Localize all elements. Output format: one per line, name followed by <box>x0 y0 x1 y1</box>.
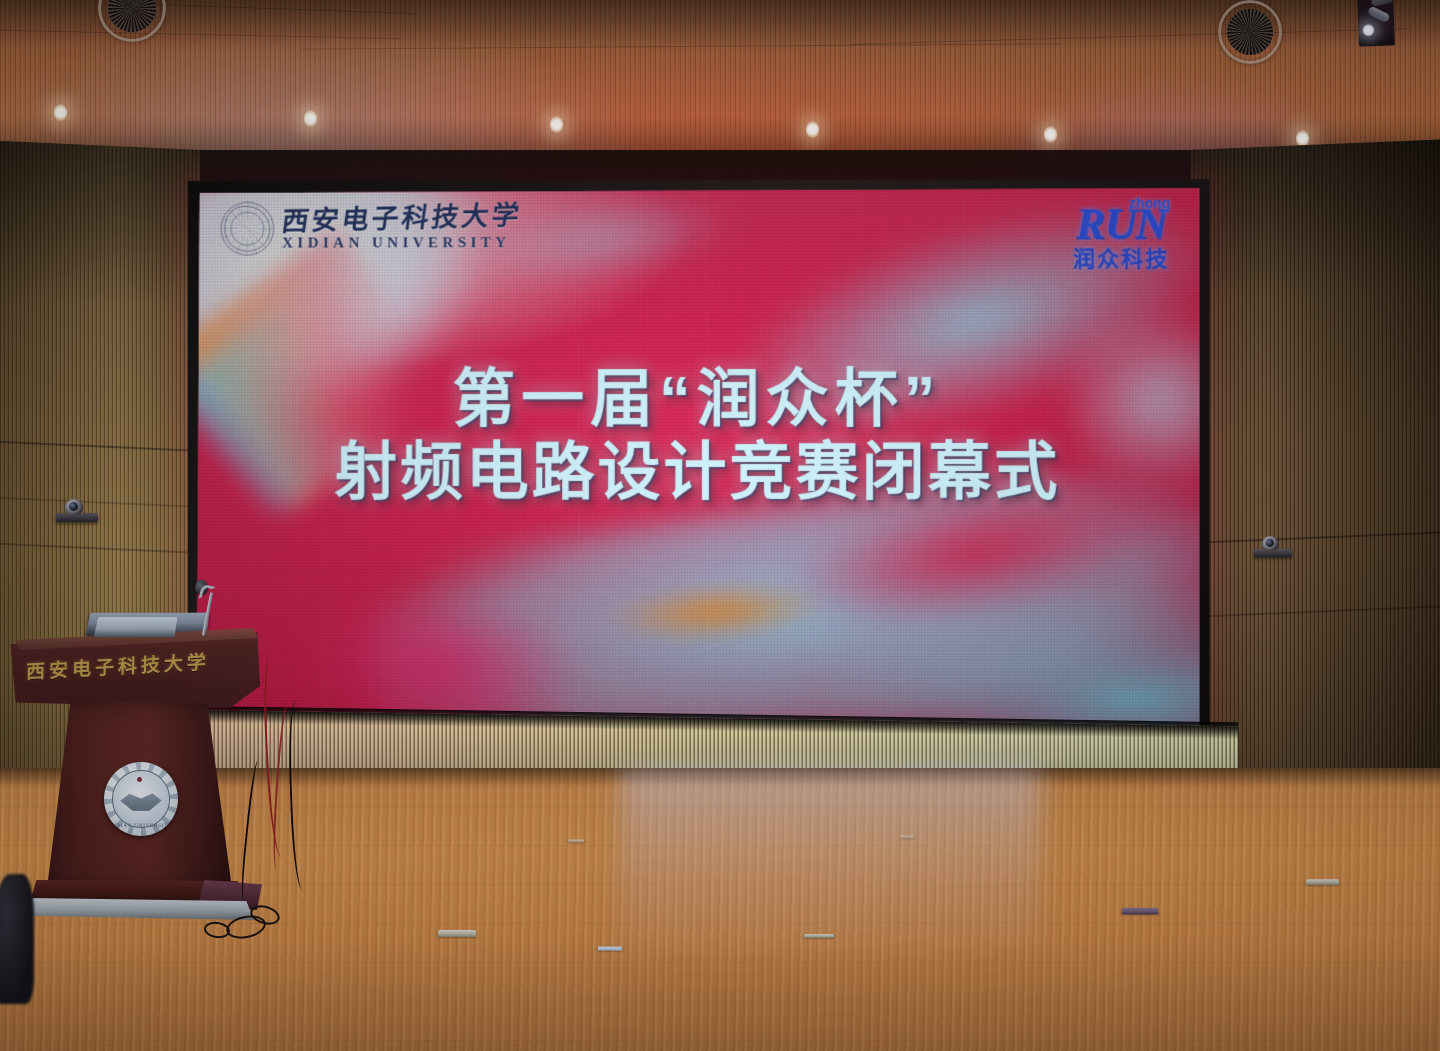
floor-socket-plate-icon <box>438 930 477 937</box>
university-name-cn: 西安电子科技大学 <box>280 202 524 236</box>
wall-seam <box>0 543 200 554</box>
emblem-text-en: XIDIAN UNIVERSITY <box>104 823 178 829</box>
wall-seam <box>1190 532 1440 544</box>
wall-seam <box>1190 606 1440 618</box>
floor-socket-plate-icon <box>598 946 622 950</box>
podium: 西安电子科技大学 XIDIAN UNIVERSITY <box>8 612 266 932</box>
ceiling-seam <box>0 30 400 39</box>
floor-socket-plate-icon <box>1122 908 1159 915</box>
university-name-en: XIDIAN UNIVERSITY <box>282 236 521 251</box>
ceiling-seam <box>300 43 1060 49</box>
wall-seam <box>0 497 200 508</box>
university-emblem-icon: XIDIAN UNIVERSITY <box>104 762 178 836</box>
wall-mounted-ptz-camera-icon <box>1254 537 1293 557</box>
recessed-downlight-icon <box>550 116 563 133</box>
podium-base <box>18 898 256 920</box>
floor-socket-plate-icon <box>804 934 834 938</box>
recessed-downlight-icon <box>304 110 317 127</box>
wall-mounted-ptz-camera-icon <box>56 500 98 522</box>
sponsor-name-cn: 润众科技 <box>1073 248 1170 270</box>
sponsor-logo: RUN zhong 润众科技 <box>1073 202 1170 270</box>
floor-light-reflection <box>620 768 1040 968</box>
auditorium-stage-photo: 西安电子科技大学 XIDIAN UNIVERSITY RUN zhong 润众科… <box>0 0 1440 1051</box>
ceiling-spotlight-icon <box>1357 0 1395 47</box>
floor-marker <box>900 836 914 839</box>
floor-marker <box>568 840 584 843</box>
sponsor-superscript: zhong <box>1129 196 1170 210</box>
university-seal-icon <box>221 202 275 256</box>
foreground-object <box>0 874 34 1004</box>
recessed-downlight-icon <box>1044 126 1057 143</box>
ceiling-air-vent-icon <box>1218 0 1282 64</box>
laptop-icon <box>94 617 178 637</box>
recessed-downlight-icon <box>54 104 67 121</box>
recessed-downlight-icon <box>806 121 819 138</box>
floor-socket-plate-icon <box>1306 879 1340 885</box>
event-title: 第一届“润众杯” 射频电路设计竞赛闭幕式 <box>197 365 1200 508</box>
led-screen-surface: 西安电子科技大学 XIDIAN UNIVERSITY RUN zhong 润众科… <box>197 188 1200 733</box>
led-screen[interactable]: 西安电子科技大学 XIDIAN UNIVERSITY RUN zhong 润众科… <box>188 179 1210 743</box>
ceiling-seam <box>850 28 1410 45</box>
event-title-line2: 射频电路设计竞赛闭幕式 <box>197 437 1200 508</box>
event-title-line1: 第一届“润众杯” <box>197 365 1200 433</box>
university-logo: 西安电子科技大学 XIDIAN UNIVERSITY <box>221 201 522 255</box>
wall-seam <box>0 441 200 452</box>
ceiling-air-vent-icon <box>98 0 166 42</box>
